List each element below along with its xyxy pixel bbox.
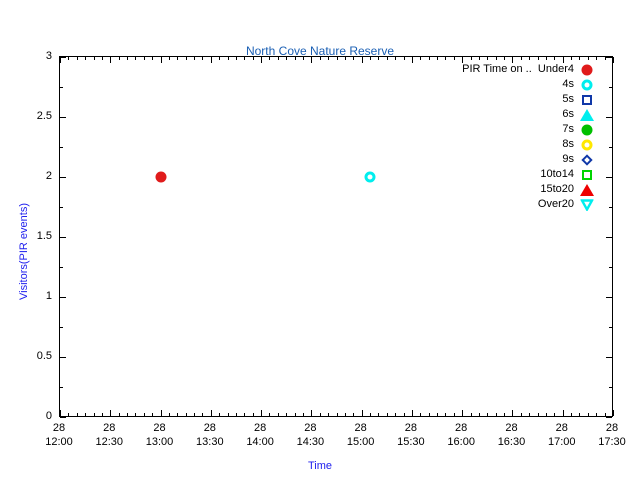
legend-marker-circle-filled-icon — [574, 122, 600, 137]
legend-label: 9s — [562, 152, 574, 167]
legend-marker-square-open-icon — [574, 167, 600, 182]
legend-entry-over20: Over20 — [300, 197, 600, 212]
y-tick-label: 3 — [2, 51, 52, 62]
legend-marker-diamond-open-icon — [574, 152, 600, 167]
legend-marker-square-open-icon — [574, 92, 600, 107]
y-major-tick — [60, 417, 66, 418]
legend-entry-15to20: 15to20 — [300, 182, 600, 197]
legend-label: 4s — [562, 77, 574, 92]
x-tick-label-time: 17:30 — [572, 435, 640, 449]
legend-marker-circle-open-icon — [574, 77, 600, 92]
legend-marker-circle-filled-icon — [574, 62, 600, 77]
y-tick-label: 0.5 — [2, 351, 52, 362]
legend-label: 15to20 — [540, 182, 574, 197]
legend-entry-10to14: 10to14 — [300, 167, 600, 182]
legend-entry-under4: PIR Time on .. Under4 — [300, 62, 600, 77]
legend-label: Over20 — [538, 197, 574, 212]
legend-label: PIR Time on .. Under4 — [462, 62, 574, 77]
legend-label: 5s — [562, 92, 574, 107]
x-axis-title: Time — [0, 460, 640, 473]
y-major-tick-right — [606, 417, 612, 418]
legend-marker-circle-open-icon — [574, 137, 600, 152]
legend-entry-5s: 5s — [300, 92, 600, 107]
legend-label: 10to14 — [540, 167, 574, 182]
x-axis-tick-labels: 2812:002812:302813:002813:302814:002814:… — [0, 421, 640, 455]
y-tick-label: 2.5 — [2, 111, 52, 122]
legend-marker-triangle-up-icon — [574, 182, 600, 197]
legend-entry-9s: 9s — [300, 152, 600, 167]
legend-label: 6s — [562, 107, 574, 122]
legend-label: 8s — [562, 137, 574, 152]
chart-legend: PIR Time on .. Under44s5s6s7s8s9s10to141… — [300, 62, 600, 212]
chart-page: North Cove Nature Reserve Visitor Counte… — [0, 0, 640, 480]
y-axis-title: Visitors(PIR events) — [18, 203, 30, 300]
y-tick-label: 2 — [2, 171, 52, 182]
legend-marker-triangle-up-icon — [574, 107, 600, 122]
legend-label: 7s — [562, 122, 574, 137]
x-tick-label-day: 28 — [572, 421, 640, 435]
x-tick-label: 2817:30 — [572, 421, 640, 449]
legend-marker-triangle-down-open-icon — [574, 197, 600, 212]
legend-entry-7s: 7s — [300, 122, 600, 137]
legend-entry-6s: 6s — [300, 107, 600, 122]
legend-entry-8s: 8s — [300, 137, 600, 152]
legend-entry-4s: 4s — [300, 77, 600, 92]
